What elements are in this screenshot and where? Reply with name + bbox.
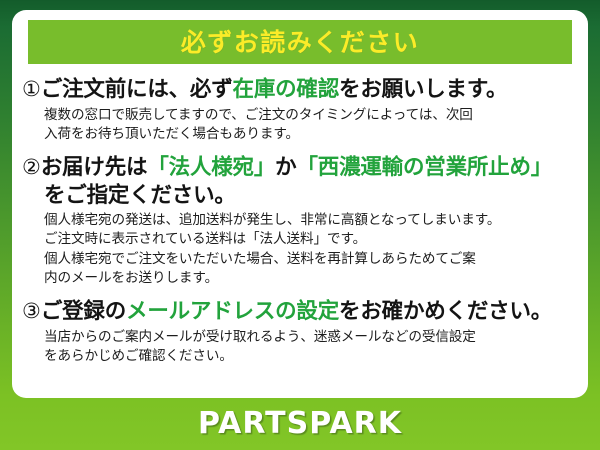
brand-name: PARTSPARK — [198, 409, 402, 439]
notice-items: ①ご注文前には、必ず在庫の確認をお願いします。 複数の窓口で販売してますので、ご… — [12, 72, 588, 366]
item-2-body: 個人様宅宛の発送は、追加送料が発生し、非常に高額となってしまいます。 ご注文時に… — [22, 211, 580, 288]
notice-banner: 必ずお読みください ①ご注文前には、必ず在庫の確認をお願いします。 複数の窓口で… — [0, 0, 600, 450]
item-1-body-line-1: 複数の窓口で販売してますので、ご注文のタイミングによっては、次回 — [44, 106, 580, 125]
item-2-marker: ② — [22, 155, 41, 179]
item-3-body: 当店からのご案内メールが受け取れるよう、迷惑メールなどの受信設定 をあらかじめご… — [22, 328, 580, 367]
notice-item-1: ①ご注文前には、必ず在庫の確認をお願いします。 複数の窓口で販売してますので、ご… — [12, 76, 588, 144]
header-title: 必ずお読みください — [181, 30, 420, 55]
footer: PARTSPARK — [0, 398, 600, 450]
item-2-heading: ②お届け先は「法人様宛」か「西濃運輸の営業所止め」 — [22, 154, 580, 182]
item-2-heading-part-3: か — [275, 155, 296, 180]
item-1-marker: ① — [22, 77, 41, 101]
item-2-heading-emphasis-1: 「法人様宛」 — [147, 155, 275, 180]
item-1-heading-part-1: ご注文前には、必ず — [41, 77, 233, 102]
item-3-body-line-1: 当店からのご案内メールが受け取れるよう、迷惑メールなどの受信設定 — [44, 328, 580, 347]
item-3-heading-emphasis: メールアドレスの設定 — [126, 299, 339, 324]
item-2-heading-line-2: をご指定ください。 — [22, 182, 580, 210]
item-3-heading-part-3: をお確かめください。 — [339, 299, 552, 324]
item-3-heading: ③ご登録のメールアドレスの設定をお確かめください。 — [22, 298, 580, 326]
item-2-body-line-3: 個人様宅宛でご注文をいただいた場合、送料を再計算しあらためてご案 — [44, 250, 580, 269]
item-3-body-line-2: をあらかじめご確認ください。 — [44, 347, 580, 366]
header-bar: 必ずお読みください — [28, 20, 572, 64]
item-2-heading-emphasis-2: 「西濃運輸の営業所止め」 — [296, 155, 552, 180]
item-3-heading-part-1: ご登録の — [41, 299, 126, 324]
notice-item-3: ③ご登録のメールアドレスの設定をお確かめください。 当店からのご案内メールが受け… — [12, 298, 588, 366]
item-2-heading-part-1: お届け先は — [41, 155, 148, 180]
item-1-heading-emphasis: 在庫の確認 — [233, 77, 340, 102]
item-1-body: 複数の窓口で販売してますので、ご注文のタイミングによっては、次回 入荷をお待ち頂… — [22, 106, 580, 145]
item-3-marker: ③ — [22, 299, 41, 323]
item-1-heading-part-3: をお願いします。 — [339, 77, 507, 102]
item-1-body-line-2: 入荷をお待ち頂いただく場合もあります。 — [44, 125, 580, 144]
item-2-body-line-2: ご注文時に表示されている送料は「法人送料」です。 — [44, 230, 580, 249]
item-2-body-line-4: 内のメールをお送りします。 — [44, 269, 580, 288]
item-1-heading: ①ご注文前には、必ず在庫の確認をお願いします。 — [22, 76, 580, 104]
item-2-body-line-1: 個人様宅宛の発送は、追加送料が発生し、非常に高額となってしまいます。 — [44, 211, 580, 230]
notice-card: 必ずお読みください ①ご注文前には、必ず在庫の確認をお願いします。 複数の窓口で… — [12, 10, 588, 398]
notice-item-2: ②お届け先は「法人様宛」か「西濃運輸の営業所止め」 をご指定ください。 個人様宅… — [12, 154, 588, 288]
